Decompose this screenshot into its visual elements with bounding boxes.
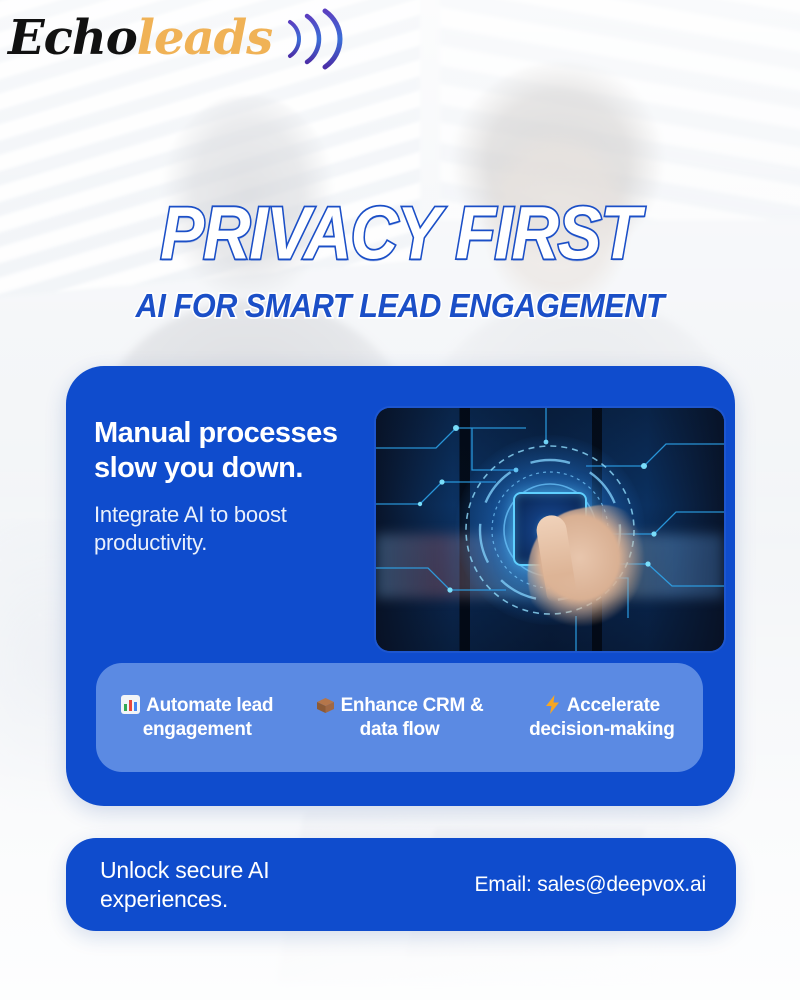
feature-item-automate: Automate lead engagement <box>96 694 298 741</box>
ai-technology-image: AI <box>376 408 724 651</box>
logo-wordmark: Echoleads <box>8 14 272 62</box>
footer-tagline: Unlock secure AI experiences. <box>66 856 396 914</box>
brand-logo[interactable]: Echoleads <box>8 6 348 70</box>
feature-item-accelerate: Accelerate decision-making <box>501 694 703 741</box>
hero-text-block: PRIVACY FIRST AI FOR SMART LEAD ENGAGEME… <box>0 196 800 322</box>
feature-strip: Automate lead engagement Enhance CRM & d… <box>96 663 703 772</box>
copy-column: Manual processes slow you down. Integrat… <box>94 408 362 557</box>
feature-label-crm: Enhance CRM & data flow <box>341 695 484 740</box>
card-upper-row: Manual processes slow you down. Integrat… <box>66 366 735 651</box>
logo-word-leads: leads <box>137 10 272 66</box>
value-prop-subtext: Integrate AI to boost productivity. <box>94 501 362 557</box>
page-title: PRIVACY FIRST <box>0 196 800 272</box>
sound-wave-icon <box>282 8 348 70</box>
footer-cta-card: Unlock secure AI experiences. Email: sal… <box>66 838 736 931</box>
logo-word-echo: Echo <box>8 10 137 66</box>
bar-chart-icon <box>121 695 140 714</box>
lightning-bolt-icon <box>544 695 561 714</box>
package-icon <box>316 697 335 714</box>
feature-label-automate: Automate lead engagement <box>143 695 273 740</box>
footer-contact-email[interactable]: Email: sales@deepvox.ai <box>475 873 737 897</box>
feature-item-crm: Enhance CRM & data flow <box>298 694 500 741</box>
value-prop-headline: Manual processes slow you down. <box>94 416 362 487</box>
page-subtitle: AI FOR SMART LEAD ENGAGEMENT <box>0 288 800 326</box>
main-content-card: Manual processes slow you down. Integrat… <box>66 366 735 806</box>
